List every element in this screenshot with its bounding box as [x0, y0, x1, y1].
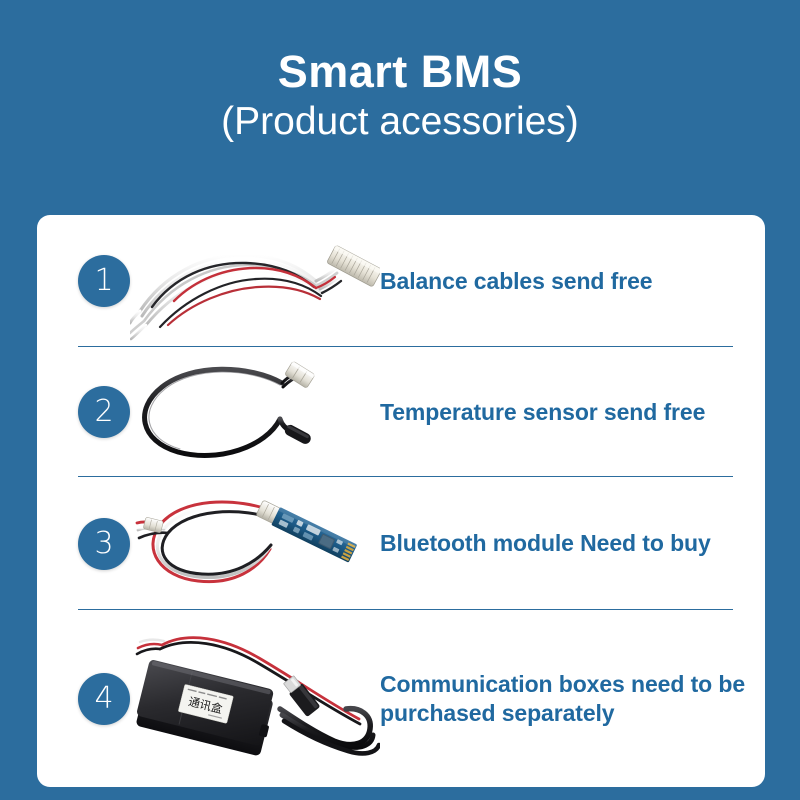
- item-label-line: purchased separately: [380, 699, 759, 728]
- page-header: Smart BMS (Product acessories): [0, 0, 800, 215]
- balance-cables-photo: [130, 215, 380, 347]
- list-item[interactable]: 2: [37, 347, 765, 477]
- list-item[interactable]: 3: [37, 477, 765, 610]
- item-label-line: Communication boxes need to be: [380, 670, 759, 699]
- accessories-list: 1: [37, 215, 765, 787]
- item-number-badge-3: 3: [78, 518, 130, 570]
- bluetooth-module-art: [130, 477, 380, 610]
- communication-box-photo: 通讯盒: [130, 610, 380, 787]
- item-label-line: Balance cables send free: [380, 267, 759, 296]
- item-number-badge-4: 4: [78, 673, 130, 725]
- temperature-sensor-photo: [130, 347, 380, 477]
- item-label-3: Bluetooth module Need to buy: [380, 529, 765, 558]
- list-item[interactable]: 4: [37, 610, 765, 787]
- page-title: Smart BMS: [278, 48, 523, 97]
- accessories-card: 1: [37, 215, 765, 787]
- item-label-1: Balance cables send free: [380, 267, 765, 296]
- item-number-badge-2: 2: [78, 386, 130, 438]
- balance-cables-art: [130, 215, 380, 347]
- item-number-badge-1: 1: [78, 255, 130, 307]
- list-item[interactable]: 1: [37, 215, 765, 347]
- item-label-4: Communication boxes need to be purchased…: [380, 670, 765, 727]
- item-label-2: Temperature sensor send free: [380, 398, 765, 427]
- item-label-line: Bluetooth module Need to buy: [380, 529, 759, 558]
- temperature-sensor-art: [130, 347, 380, 477]
- page-subtitle: (Product acessories): [221, 100, 579, 145]
- item-label-line: Temperature sensor send free: [380, 398, 759, 427]
- communication-box-art: 通讯盒: [130, 610, 380, 787]
- bluetooth-module-photo: [130, 477, 380, 610]
